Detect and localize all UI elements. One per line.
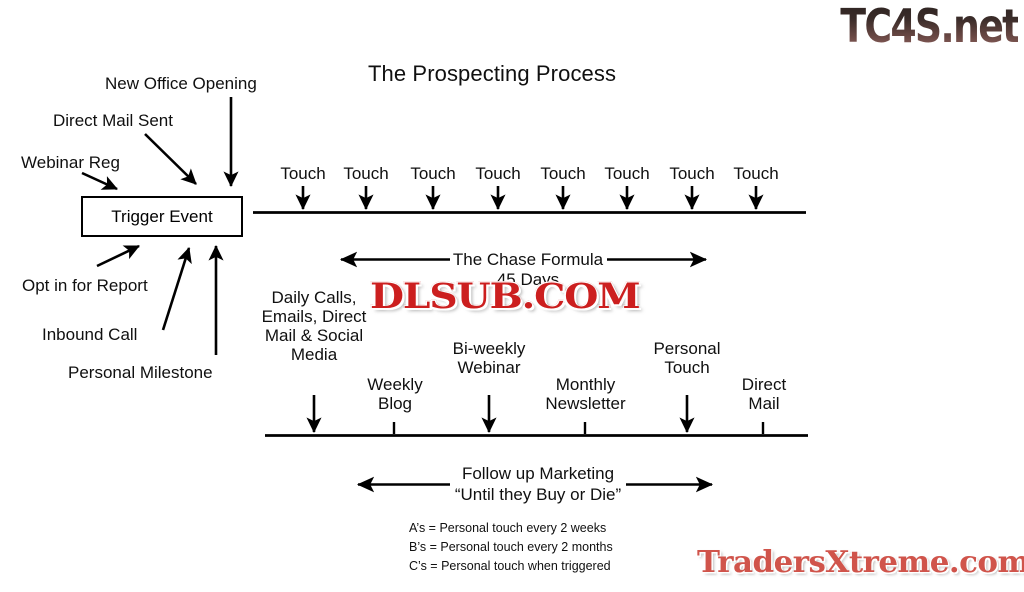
label-stage-direct-mail: Direct Mail: [728, 375, 800, 413]
prospecting-process-diagram: The Prospecting Process TC4S.net Trigger…: [0, 0, 1024, 592]
page-title: The Prospecting Process: [368, 62, 616, 87]
touch-arrows: [303, 186, 756, 209]
label-webinar-reg: Webinar Reg: [21, 153, 120, 172]
dlsub-watermark: DLSUB.COM: [370, 276, 640, 317]
legend-line-a: A’s = Personal touch every 2 weeks: [409, 521, 606, 535]
trigger-event-label: Trigger Event: [111, 207, 212, 227]
label-stage-daily-calls: Daily Calls, Emails, Direct Mail & Socia…: [248, 288, 380, 364]
dlsub-watermark-text: DLSUB.COM: [370, 276, 640, 317]
tc4s-logo: TC4S.net: [840, 0, 1018, 54]
label-inbound-call: Inbound Call: [42, 325, 137, 344]
arrow-opt-in-for-report: [97, 246, 139, 266]
label-touch-2: Touch: [336, 164, 396, 183]
label-touch-3: Touch: [403, 164, 463, 183]
label-follow-up-marketing: Follow up Marketing: [438, 464, 638, 483]
trigger-event-box: Trigger Event: [81, 196, 243, 237]
label-touch-1: Touch: [273, 164, 333, 183]
arrow-webinar-reg: [82, 173, 117, 189]
followup-stage-ticks: [394, 422, 763, 434]
label-touch-6: Touch: [597, 164, 657, 183]
label-direct-mail-sent: Direct Mail Sent: [53, 111, 173, 130]
label-chase-formula: The Chase Formula: [428, 250, 628, 269]
label-stage-bi-weekly-webinar: Bi-weekly Webinar: [438, 339, 540, 377]
label-new-office-opening: New Office Opening: [105, 74, 257, 93]
label-stage-monthly-newsletter: Monthly Newsletter: [527, 375, 644, 413]
label-stage-weekly-blog: Weekly Blog: [352, 375, 438, 413]
legend-line-c: C’s = Personal touch when triggered: [409, 559, 611, 573]
label-stage-personal-touch: Personal Touch: [639, 339, 735, 377]
label-touch-8: Touch: [726, 164, 786, 183]
label-touch-4: Touch: [468, 164, 528, 183]
label-personal-milestone: Personal Milestone: [68, 363, 213, 382]
tradersxtreme-logo: TradersXtreme.com: [697, 545, 1024, 580]
label-touch-7: Touch: [662, 164, 722, 183]
label-follow-up-motto: “Until they Buy or Die”: [438, 485, 638, 504]
legend-line-b: B’s = Personal touch every 2 months: [409, 540, 613, 554]
label-opt-in-for-report: Opt in for Report: [22, 276, 148, 295]
arrow-direct-mail-sent: [145, 134, 196, 184]
arrow-inbound-call: [163, 248, 189, 330]
label-touch-5: Touch: [533, 164, 593, 183]
